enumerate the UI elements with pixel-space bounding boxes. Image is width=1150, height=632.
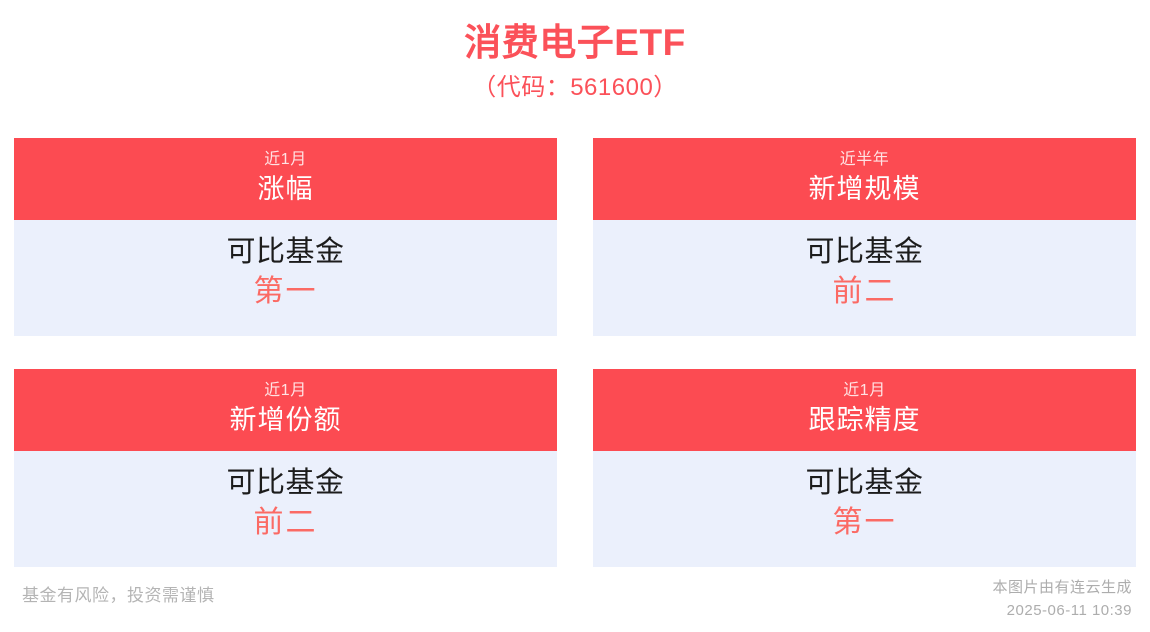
card-header: 近半年 新增规模 [593, 138, 1136, 220]
page-footer: 基金有风险，投资需谨慎 本图片由有连云生成 2025-06-11 10:39 [0, 570, 1150, 632]
card-metric-label: 涨幅 [258, 172, 314, 207]
card-rank-value: 前二 [833, 272, 897, 311]
metric-card-monthly-share-growth: 近1月 新增份额 可比基金 前二 [14, 369, 557, 567]
card-rank-value: 第一 [833, 503, 897, 542]
page-title: 消费电子ETF [0, 20, 1150, 66]
card-header: 近1月 新增份额 [14, 369, 557, 451]
card-body: 可比基金 前二 [14, 451, 557, 567]
card-compare-label: 可比基金 [805, 233, 923, 272]
metric-card-grid: 近1月 涨幅 可比基金 第一 近半年 新增规模 可比基金 前二 近1月 新增份额 [14, 138, 1136, 567]
credit-timestamp: 2025-06-11 10:39 [992, 600, 1132, 623]
image-credit: 本图片由有连云生成 2025-06-11 10:39 [992, 577, 1132, 632]
infographic-page: 消费电子ETF （代码：561600） 近1月 涨幅 可比基金 第一 近半年 新… [0, 0, 1150, 632]
risk-disclaimer: 基金有风险，投资需谨慎 [22, 584, 215, 632]
card-period-label: 近1月 [843, 380, 885, 402]
fund-code-subtitle: （代码：561600） [0, 72, 1150, 104]
card-body: 可比基金 第一 [593, 451, 1136, 567]
credit-source: 本图片由有连云生成 [992, 577, 1132, 600]
card-period-label: 近半年 [840, 149, 890, 171]
card-rank-value: 前二 [254, 503, 318, 542]
card-period-label: 近1月 [264, 149, 306, 171]
card-metric-label: 新增份额 [230, 403, 342, 438]
card-header: 近1月 跟踪精度 [593, 369, 1136, 451]
metric-card-monthly-tracking-accuracy: 近1月 跟踪精度 可比基金 第一 [593, 369, 1136, 567]
card-compare-label: 可比基金 [226, 233, 344, 272]
card-body: 可比基金 第一 [14, 220, 557, 336]
card-compare-label: 可比基金 [226, 464, 344, 503]
metric-card-halfyear-scale-growth: 近半年 新增规模 可比基金 前二 [593, 138, 1136, 336]
card-period-label: 近1月 [264, 380, 306, 402]
metric-card-monthly-return: 近1月 涨幅 可比基金 第一 [14, 138, 557, 336]
card-rank-value: 第一 [254, 272, 318, 311]
page-header: 消费电子ETF （代码：561600） [0, 0, 1150, 105]
card-metric-label: 新增规模 [809, 172, 921, 207]
card-header: 近1月 涨幅 [14, 138, 557, 220]
card-body: 可比基金 前二 [593, 220, 1136, 336]
card-compare-label: 可比基金 [805, 464, 923, 503]
card-metric-label: 跟踪精度 [809, 403, 921, 438]
